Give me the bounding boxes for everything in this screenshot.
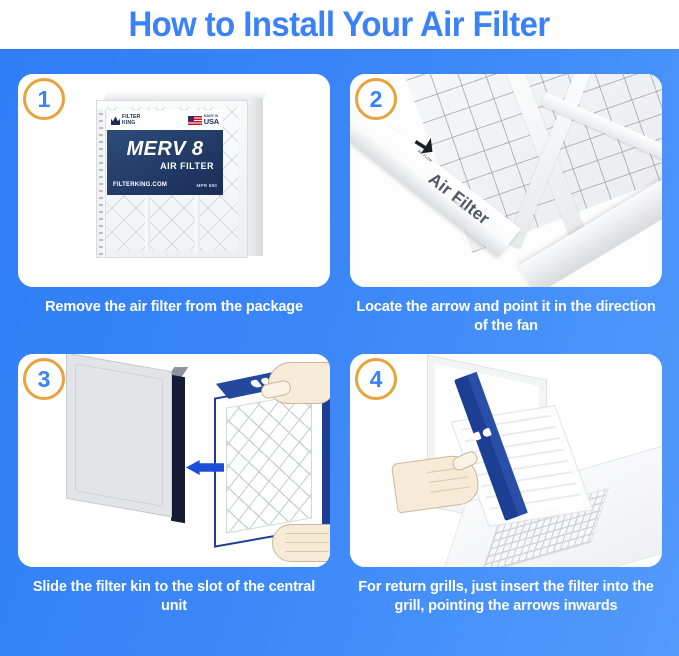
brand-line-2: KING [122, 121, 140, 126]
step-number-badge-1: 1 [23, 78, 65, 120]
step-panel-4: 4 For return grills, just insert the fil… [350, 354, 662, 617]
step-1-card: FILTER KING MADE IN [18, 74, 330, 287]
filter-product-label: FILTER KING MADE IN [107, 111, 223, 195]
unit-slot-opening [171, 375, 185, 523]
step-1-image: FILTER KING MADE IN [18, 74, 330, 287]
filter-pleated-media [226, 392, 312, 533]
step-2-card: AIR FLOW Air Filter AIRFLOW 2 [350, 74, 662, 287]
page-title: How to Install Your Air Filter [129, 7, 550, 42]
step-panel-1: FILTER KING MADE IN [18, 74, 330, 317]
step-2-image: AIR FLOW Air Filter AIRFLOW [350, 74, 662, 287]
label-bottom-row: FILTERKING.COM MPR 650 [113, 182, 217, 188]
step-caption-2: Locate the arrow and point it in the dir… [350, 298, 662, 337]
mpr-rating-label: MPR 650 [196, 183, 217, 188]
website-label: FILTERKING.COM [113, 182, 167, 188]
step-panel-2: AIR FLOW Air Filter AIRFLOW 2 Locate the… [350, 74, 662, 337]
step-number-badge-2: 2 [355, 78, 397, 120]
steps-grid: FILTER KING MADE IN [0, 49, 679, 656]
step-panel-3: 3 Slide the filter kin to the slot of th… [18, 354, 330, 617]
step-caption-3: Slide the filter kin to the slot of the … [18, 578, 330, 617]
usa-label: USA [204, 118, 219, 126]
filter-king-logo: FILTER KING [111, 115, 140, 126]
air-filter-label: AIR FILTER [160, 162, 214, 171]
step-caption-4: For return grills, just insert the filte… [350, 578, 662, 617]
step-4-image [350, 354, 662, 567]
step-4-card: 4 [350, 354, 662, 567]
merv-rating: MERV 8 [107, 139, 223, 159]
steps-background: FILTER KING MADE IN [0, 49, 679, 656]
header-band: How to Install Your Air Filter [0, 0, 679, 49]
us-flag-icon [188, 116, 202, 125]
filter-left-rail [97, 109, 106, 258]
brand-name: FILTER KING [122, 115, 140, 126]
step-caption-1: Remove the air filter from the package [18, 298, 330, 317]
filter-front-face: FILTER KING MADE IN [96, 100, 248, 258]
boxed-air-filter-photo: FILTER KING MADE IN [96, 92, 263, 262]
label-top-strip: FILTER KING MADE IN [107, 111, 223, 130]
infographic-root: How to Install Your Air Filter [0, 0, 679, 656]
central-unit-panel [66, 354, 172, 517]
made-in-usa-text: MADE IN USA [204, 115, 219, 126]
step-number-badge-4: 4 [355, 358, 397, 400]
hand-lower [272, 524, 330, 562]
step-number-badge-3: 3 [23, 358, 65, 400]
crown-icon [111, 116, 120, 125]
step-3-image [18, 354, 330, 567]
step-3-card: 3 [18, 354, 330, 567]
made-in-usa-badge: MADE IN USA [188, 115, 219, 126]
filter-side-edge [247, 98, 263, 256]
